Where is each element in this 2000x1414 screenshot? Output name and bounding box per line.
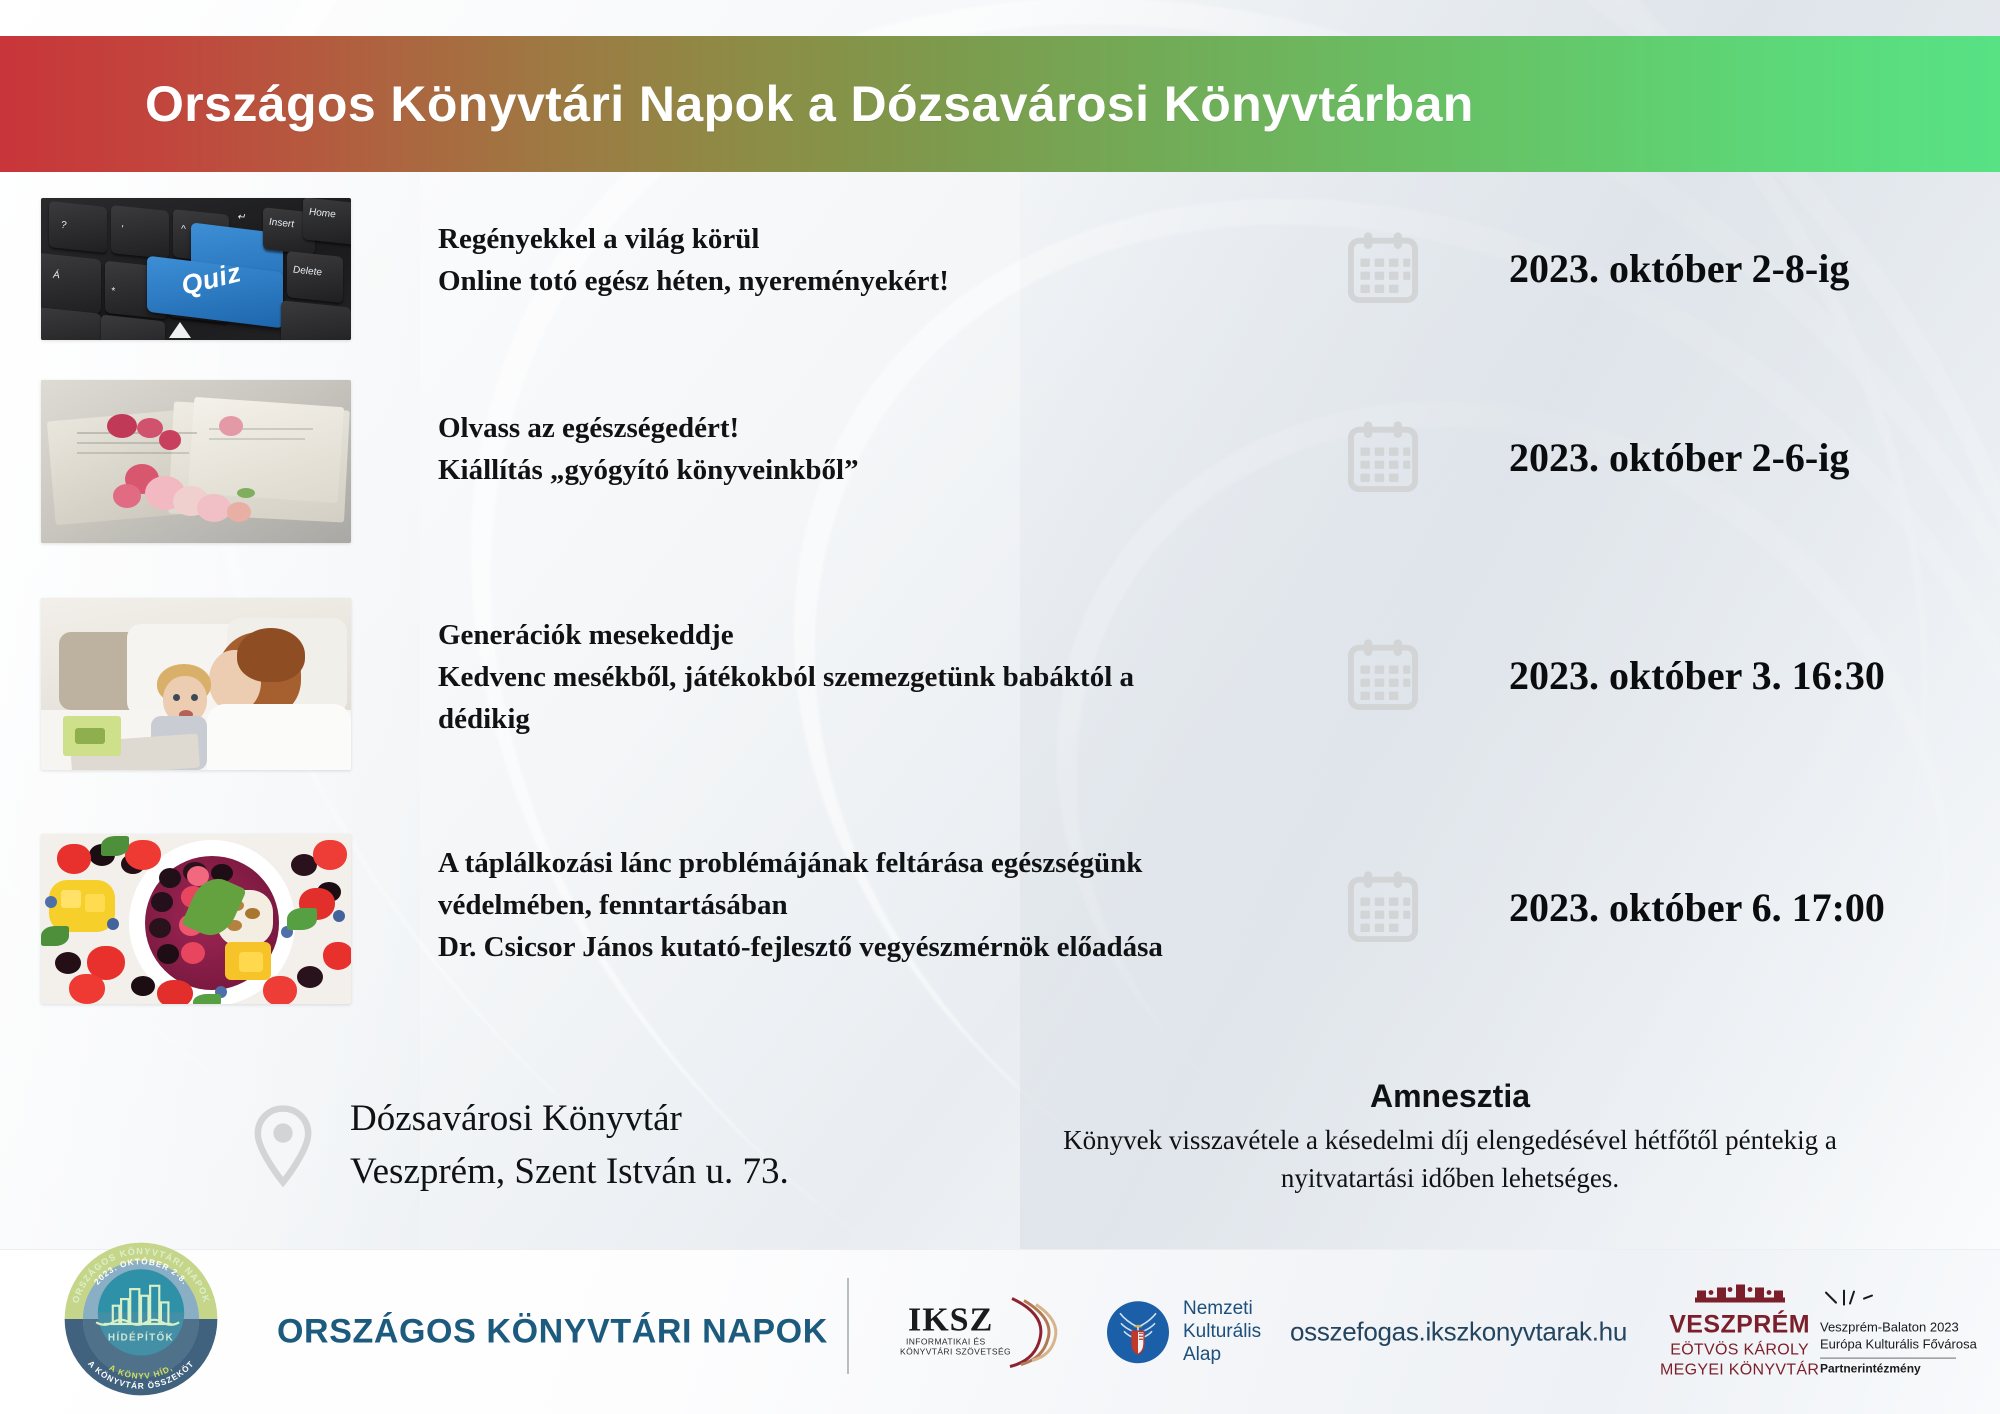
nka-line-1: Nemzeti: [1183, 1297, 1261, 1320]
event-date: 2023. október 2-8-ig: [1509, 245, 1849, 292]
calendar-icon: [1345, 637, 1421, 713]
nka-text: Nemzeti Kulturális Alap: [1183, 1297, 1261, 1367]
footer-logo-bar: ORSZÁGOS KÖNYVTÁRI NAPOK 2023. OKTÓBER 2…: [0, 1249, 2000, 1414]
poster-root: Országos Könyvtári Napok a Dózsavárosi K…: [0, 0, 2000, 1414]
amnesty-title: Amnesztia: [1010, 1078, 1890, 1115]
page-title: Országos Könyvtári Napok a Dózsavárosi K…: [145, 75, 1474, 133]
amnesty-body: Könyvek visszavétele a késedelmi díj ele…: [1010, 1121, 1890, 1198]
event-row: A táplálkozási lánc problémájának feltár…: [0, 812, 2000, 1062]
veszprem-name: VESZPRÉM: [1660, 1313, 1819, 1338]
sparkle-icon: [1820, 1289, 1878, 1315]
address-text: Dózsavárosi Könyvtár Veszprém, Szent Ist…: [350, 1093, 789, 1198]
evb-line-2: Európa Kulturális Fővárosa: [1820, 1337, 1977, 1354]
veszprem-sub-2: MEGYEI KÖNYVTÁR: [1660, 1361, 1819, 1381]
event-line3: Dr. Csicsor János kutató-fejlesztő vegyé…: [438, 926, 1288, 968]
veszprem-sub-1: EÖTVÖS KÁROLY: [1660, 1341, 1819, 1361]
event-date: 2023. október 2-6-ig: [1509, 434, 1849, 481]
iksz-acronym: IKSZ: [908, 1302, 993, 1339]
evb-divider: [1820, 1357, 1956, 1358]
event-date: 2023. október 6. 17:00: [1509, 884, 1885, 931]
event-text: Generációk mesekeddje Kedvenc mesékből, …: [438, 614, 1288, 740]
location-pin-icon: [252, 1104, 314, 1188]
venue-street: Veszprém, Szent István u. 73.: [350, 1146, 789, 1199]
event-photo-mother-child: [41, 598, 351, 770]
veszprem-library-logo: VESZPRÉM EÖTVÖS KÁROLY MEGYEI KÖNYVTÁR: [1660, 1284, 1819, 1381]
amnesty-line-1: Könyvek visszavétele a késedelmi díj ele…: [1010, 1121, 1890, 1159]
crown-icon: [1665, 1284, 1815, 1308]
nka-line-3: Alap: [1183, 1344, 1261, 1367]
logo-divider: [847, 1278, 849, 1374]
amnesty-block: Amnesztia Könyvek visszavétele a késedel…: [1010, 1078, 1890, 1198]
iksz-line-2: KÖNYVTÁRI SZÖVETSÉG: [900, 1347, 1011, 1357]
venue-name: Dózsavárosi Könyvtár: [350, 1093, 789, 1146]
okn-logo-center: HÍDÉPÍTŐK: [108, 1332, 174, 1344]
event-title: Generációk mesekeddje: [438, 614, 1288, 656]
event-title: A táplálkozási lánc problémájának feltár…: [438, 842, 1288, 884]
event-date-block: 2023. október 2-6-ig: [1345, 419, 1849, 495]
nka-line-2: Kulturális: [1183, 1320, 1261, 1343]
campaign-url[interactable]: osszefogas.ikszkonyvtarak.hu: [1290, 1317, 1627, 1348]
event-subtitle: Kedvenc mesékből, játékokból szemezgetün…: [438, 656, 1288, 698]
evb-line-3: Partnerintézmény: [1820, 1361, 1977, 1375]
calendar-icon: [1345, 230, 1421, 306]
event-date-block: 2023. október 6. 17:00: [1345, 869, 1885, 945]
event-text: Regényekkel a világ körül Online totó eg…: [438, 218, 1288, 302]
event-date: 2023. október 3. 16:30: [1509, 652, 1885, 699]
veszprem-balaton-2023-logo: Veszprém-Balaton 2023 Európa Kulturális …: [1820, 1289, 1977, 1376]
evb-line-1: Veszprém-Balaton 2023: [1820, 1320, 1977, 1337]
iksz-line-1: INFORMATIKAI ÉS: [906, 1337, 986, 1347]
event-text: A táplálkozási lánc problémájának feltár…: [438, 842, 1288, 968]
event-line3: dédikig: [438, 698, 1288, 740]
event-row: Generációk mesekeddje Kedvenc mesékből, …: [0, 580, 2000, 812]
event-row: Quiz ↵ Insert Home Delete ? ' Á ^ *: [0, 190, 2000, 365]
event-list: Quiz ↵ Insert Home Delete ? ' Á ^ *: [0, 190, 2000, 1062]
event-subtitle: védelmében, fenntartásában: [438, 884, 1288, 926]
event-text: Olvass az egészségedért! Kiállítás „gyóg…: [438, 407, 1288, 491]
event-title: Olvass az egészségedért!: [438, 407, 1288, 449]
nka-logo: Nemzeti Kulturális Alap: [1105, 1297, 1261, 1367]
event-subtitle: Online totó egész héten, nyereményekért!: [438, 260, 1288, 302]
event-date-block: 2023. október 3. 16:30: [1345, 637, 1885, 713]
event-photo-keyboard-quiz: Quiz ↵ Insert Home Delete ? ' Á ^ *: [41, 198, 351, 340]
event-date-block: 2023. október 2-8-ig: [1345, 230, 1849, 306]
calendar-icon: [1345, 869, 1421, 945]
okn-wordmark: ORSZÁGOS KÖNYVTÁRI NAPOK: [277, 1313, 828, 1352]
event-subtitle: Kiállítás „gyógyító könyveinkből”: [438, 449, 1288, 491]
event-title: Regényekkel a világ körül: [438, 218, 1288, 260]
address-block: Dózsavárosi Könyvtár Veszprém, Szent Ist…: [252, 1093, 789, 1198]
title-banner: Országos Könyvtári Napok a Dózsavárosi K…: [0, 36, 2000, 172]
event-row: Olvass az egészségedért! Kiállítás „gyóg…: [0, 365, 2000, 580]
okn-circular-logo: ORSZÁGOS KÖNYVTÁRI NAPOK 2023. OKTÓBER 2…: [58, 1236, 224, 1402]
event-photo-book-flowers: [41, 380, 351, 543]
iksz-logo: IKSZ INFORMATIKAI ÉS KÖNYVTÁRI SZÖVETSÉG: [900, 1287, 1080, 1378]
event-photo-fruit-bowl: [41, 834, 351, 1004]
calendar-icon: [1345, 419, 1421, 495]
amnesty-line-2: nyitvatartási időben lehetséges.: [1010, 1159, 1890, 1197]
